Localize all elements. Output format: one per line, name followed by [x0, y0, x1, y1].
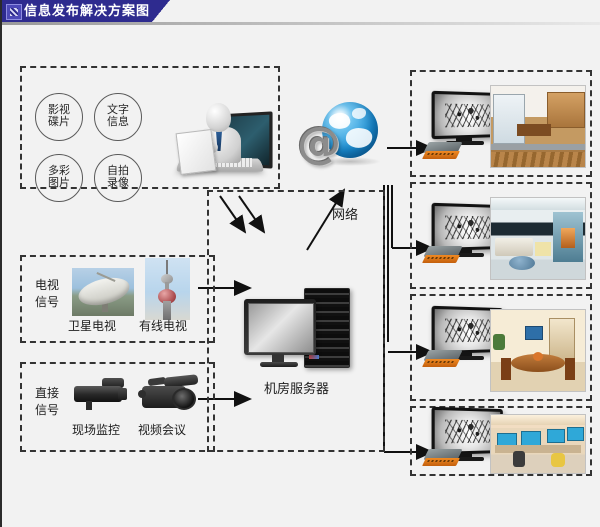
cctv-lens: [118, 388, 127, 400]
video-conference-caption: 视频会议: [138, 424, 186, 438]
content-item-color-images[interactable]: 多彩 图片: [35, 154, 83, 202]
tv-signal-label-line1: 电视: [30, 279, 64, 293]
set-top-box-icon: [426, 449, 462, 471]
set-top-box-icon: [426, 246, 462, 268]
dining-kitchen-room-photo: [490, 85, 586, 168]
direct-signal-label-line1: 直接: [30, 387, 64, 401]
content-item-text-info[interactable]: 文字 信息: [94, 93, 142, 141]
content-item-self-recorded-video[interactable]: 自拍 录像: [94, 154, 142, 202]
figure-document-icon: [176, 129, 217, 175]
network-globe-group: @: [297, 100, 379, 180]
title-underline: [2, 22, 600, 25]
globe-landmass: [352, 108, 366, 119]
cctv-mount: [86, 401, 92, 410]
page-title: 信息发布解决方案图: [24, 3, 150, 18]
monitor-foot: [260, 362, 298, 367]
content-item-line2: 录像: [107, 178, 129, 190]
content-item-line2: 图片: [48, 178, 70, 190]
tv-splash-graphic: [445, 215, 491, 239]
modern-living-room-photo: [490, 197, 586, 280]
tv-splash-graphic: [445, 103, 491, 127]
set-top-box-icon: [426, 350, 462, 372]
page-title-bar: 信息发布解决方案图: [2, 0, 152, 22]
stb-body: [422, 458, 460, 466]
stb-body: [422, 359, 460, 367]
content-item-line2: 碟片: [48, 117, 70, 129]
set-top-box-icon: [426, 142, 462, 164]
cctv-camera-icon: [74, 376, 136, 412]
grid-badge-icon: [6, 4, 22, 20]
tower-base: [163, 301, 171, 320]
satellite-tv-caption: 卫星电视: [68, 320, 116, 334]
tv-tower-icon: [145, 258, 190, 320]
tv-splash-graphic: [445, 318, 491, 342]
camcorder-icon: [138, 372, 206, 414]
tv-signal-label-line2: 信号: [30, 296, 64, 310]
title-slant-decoration: [152, 0, 170, 22]
figure-head-icon: [206, 103, 231, 132]
content-item-video-disc[interactable]: 影视 碟片: [35, 93, 83, 141]
cctv-body: [74, 386, 122, 402]
content-item-line2: 信息: [107, 117, 129, 129]
direct-signal-label-line2: 信号: [30, 404, 64, 418]
office-workstations-photo: [490, 414, 586, 474]
camcorder-mic: [138, 390, 146, 398]
tv-splash-graphic: [445, 419, 491, 443]
site-monitoring-caption: 现场监控: [72, 424, 120, 438]
stb-body: [422, 151, 460, 159]
person-at-laptop-icon: [170, 95, 275, 190]
cable-tv-caption: 有线电视: [139, 320, 187, 334]
server-computer-icon: [242, 288, 352, 374]
stb-body: [422, 255, 460, 263]
at-symbol-icon: @: [297, 122, 341, 166]
camcorder-lens: [172, 388, 196, 410]
satellite-dish-icon: [72, 268, 134, 316]
server-label: 机房服务器: [264, 382, 329, 397]
warm-dining-room-photo: [490, 309, 586, 392]
server-screen: [248, 303, 314, 353]
server-monitor: [244, 299, 316, 355]
